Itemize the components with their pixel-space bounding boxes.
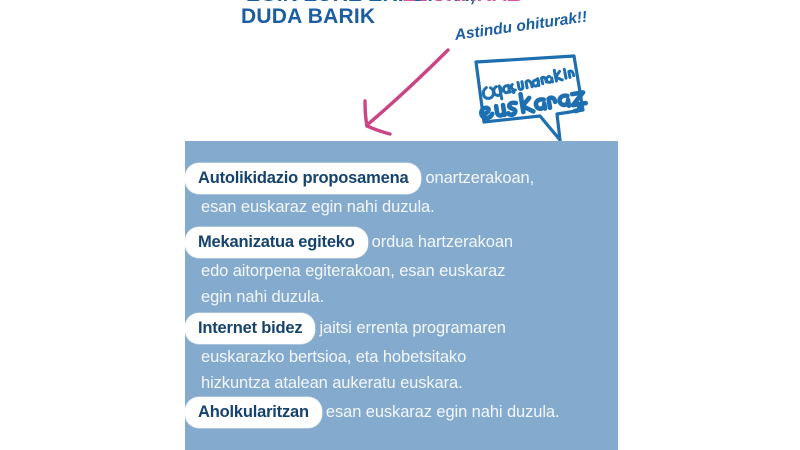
info-block-first-line: Aholkularitzanesan euskaraz egin nahi du… [185,397,618,428]
info-block-tail-text: esan euskaraz egin nahi duzula. [326,403,560,421]
highlight-pill-aholkularitzan[interactable]: Aholkularitzan [185,397,322,428]
info-block-line: egin nahi duzula. [185,284,618,310]
pink-arrow-icon [345,45,465,140]
headline-area: EGIN ZURE ERRENTA, EUSKARAZ DUDA BARIK [0,0,800,36]
info-block-line: edo aitorpena egiterakoan, esan euskaraz [185,258,618,284]
info-block-first-line: Mekanizatua egitekoordua hartzerakoan [185,227,618,258]
info-block: Mekanizatua egitekoordua hartzerakoan ed… [185,227,618,310]
highlight-pill-internet-bidez[interactable]: Internet bidez [185,313,315,344]
info-block-line: euskarazko bertsioa, eta hobetsitako [185,344,618,370]
info-block: Internet bidezjaitsi errenta programaren… [185,313,618,396]
info-block-line: esan euskaraz egin nahi duzula. [185,194,618,220]
info-block-first-line: Internet bidezjaitsi errenta programaren [185,313,618,344]
info-block-tail-text: onartzerakoan, [425,169,534,187]
headline-line-duda-barik: DUDA BARIK [241,5,375,29]
info-block: Aholkularitzanesan euskaraz egin nahi du… [185,397,618,428]
headline-cropped-pink-line: EUSKARAZ [402,0,520,7]
main-blue-panel: Autolikidazio proposamenaonartzerakoan, … [185,141,618,450]
euskaraz-speech-bubble-logo [462,52,590,144]
highlight-pill-mekanizatua-egiteko[interactable]: Mekanizatua egiteko [185,227,368,258]
info-block: Autolikidazio proposamenaonartzerakoan, … [185,163,618,220]
info-block-first-line: Autolikidazio proposamenaonartzerakoan, [185,163,618,194]
highlight-pill-autolikidazio-proposamena[interactable]: Autolikidazio proposamena [185,163,421,194]
info-block-line: hizkuntza atalean aukeratu euskara. [185,370,618,396]
info-block-tail-text: ordua hartzerakoan [372,233,513,251]
info-block-tail-text: jaitsi errenta programaren [319,319,505,337]
